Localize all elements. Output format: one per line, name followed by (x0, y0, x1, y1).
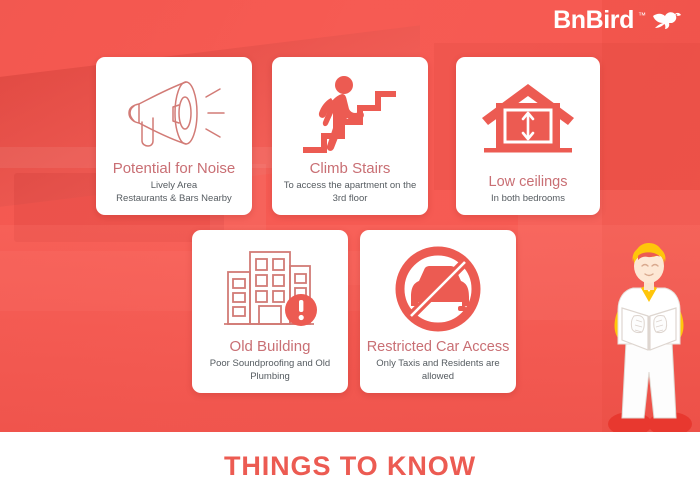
card-subtitle: Only Taxis and Residents are allowed (374, 358, 501, 384)
house-height-arrow-icon (464, 67, 592, 174)
card-subtitle-line: To access the apartment on the (284, 180, 417, 193)
card-subtitle-line: Restaurants & Bars Nearby (116, 193, 232, 206)
card-title: Restricted Car Access (367, 339, 510, 356)
no-car-icon (368, 240, 508, 339)
card-subtitle: In both bedrooms (489, 193, 567, 206)
page-title: THINGS TO KNOW (224, 451, 476, 482)
card-subtitle-line: In both bedrooms (491, 193, 565, 206)
hero-banner: BnBird ™ (0, 0, 700, 432)
card-title: Potential for Noise (113, 160, 236, 177)
card-title: Low ceilings (489, 174, 568, 191)
card-subtitle-line: Plumbing (210, 371, 330, 384)
card-potential-for-noise[interactable]: Potential for Noise Lively Area Restaura… (96, 57, 252, 215)
card-subtitle-line: Poor Soundproofing and Old (210, 358, 330, 371)
trademark-symbol: ™ (638, 12, 646, 20)
card-old-building[interactable]: Old Building Poor Soundproofing and Old … (192, 230, 348, 393)
card-low-ceilings[interactable]: Low ceilings In both bedrooms (456, 57, 600, 215)
card-subtitle-line: 3rd floor (284, 193, 417, 206)
card-title: Climb Stairs (310, 160, 391, 177)
card-subtitle-line: Only Taxis and Residents are (376, 358, 499, 371)
card-restricted-car-access[interactable]: Restricted Car Access Only Taxis and Res… (360, 230, 516, 393)
person-climbing-stairs-icon (280, 67, 420, 160)
info-card-grid: Potential for Noise Lively Area Restaura… (0, 0, 700, 432)
card-climb-stairs[interactable]: Climb Stairs To access the apartment on … (272, 57, 428, 215)
card-subtitle: Poor Soundproofing and Old Plumbing (208, 358, 332, 384)
card-subtitle: To access the apartment on the 3rd floor (282, 180, 419, 206)
card-subtitle-line: allowed (376, 371, 499, 384)
card-title: Old Building (230, 338, 311, 355)
card-subtitle-line: Lively Area (116, 180, 232, 193)
footer-bar: THINGS TO KNOW (0, 432, 700, 500)
megaphone-icon (104, 67, 244, 160)
old-building-warning-icon (200, 240, 340, 338)
bird-icon (652, 10, 682, 32)
brand-name: BnBird (553, 8, 634, 33)
brand-logo[interactable]: BnBird ™ (553, 8, 682, 33)
card-subtitle: Lively Area Restaurants & Bars Nearby (114, 180, 234, 206)
